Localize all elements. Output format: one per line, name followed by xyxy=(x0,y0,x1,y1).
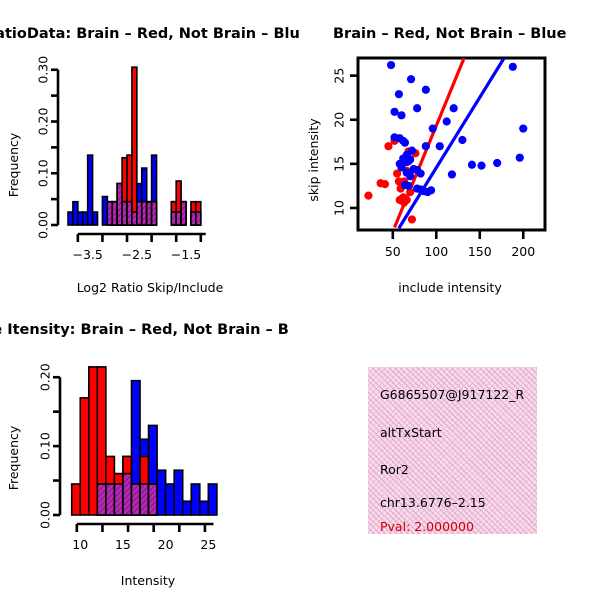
scatter-point xyxy=(448,170,456,178)
bar-overlap xyxy=(97,484,106,515)
y-axis-label: Frequency xyxy=(6,132,21,197)
bar-overlap xyxy=(123,474,132,515)
scatter-point xyxy=(397,111,405,119)
scatter-points xyxy=(364,61,527,224)
scatter-point xyxy=(417,185,425,193)
x-tick-label: 10 xyxy=(72,537,88,552)
x-tick-label: 50 xyxy=(385,244,401,259)
x-axis-label: Intensity xyxy=(121,573,176,588)
y-axis-label: Frequency xyxy=(6,425,21,490)
scatter-point xyxy=(417,169,425,177)
event-info-box: G6865507@J917122_RaltTxStartRor2chr13.67… xyxy=(368,367,537,534)
scatter-point xyxy=(468,161,476,169)
intensity-scatter-svg: 1015202550100150200 include intensity sk… xyxy=(300,40,600,310)
scatter-point xyxy=(407,75,415,83)
scatter-point xyxy=(413,104,421,112)
x-tick-label: 100 xyxy=(424,244,448,259)
bar-overlap xyxy=(149,484,158,515)
x-tick-label: 15 xyxy=(115,537,131,552)
bar-overlap xyxy=(106,484,115,515)
bar-brain xyxy=(72,484,81,515)
scatter-point xyxy=(408,215,416,223)
bar-overlap xyxy=(131,484,140,515)
scatter-point xyxy=(436,142,444,150)
bar-not-brain xyxy=(208,484,217,515)
bar-not-brain xyxy=(183,501,192,515)
bar-not-brain xyxy=(200,501,209,515)
pval-text: Pval: 2.000000 xyxy=(380,519,474,534)
scatter-point xyxy=(443,117,451,125)
intensity-scatter-panel: 1015202550100150200 include intensity sk… xyxy=(300,40,600,310)
regression-lines xyxy=(395,58,505,228)
y-tick-label: 0.30 xyxy=(36,56,51,84)
scatter-point xyxy=(406,155,414,163)
regression-line xyxy=(399,58,504,228)
bar-overlap xyxy=(114,484,123,515)
scatter-point xyxy=(493,159,501,167)
x-tick-label: 200 xyxy=(511,244,535,259)
y-tick-label: 20 xyxy=(332,112,347,128)
scatter-point xyxy=(406,172,414,180)
y-tick-label: 0.20 xyxy=(36,108,51,136)
bar-not-brain xyxy=(191,484,200,515)
scatter-point xyxy=(408,147,416,155)
scatter-point xyxy=(381,180,389,188)
bar-not-brain xyxy=(93,212,98,225)
bar-overlap xyxy=(181,202,186,225)
bar-overlap xyxy=(152,202,157,225)
bar-brain xyxy=(80,398,89,515)
scatter-point xyxy=(450,104,458,112)
x-axis-label: Log2 Ratio Skip/Include xyxy=(77,280,224,295)
y-tick-label: 15 xyxy=(332,156,347,172)
scatter-point xyxy=(387,61,395,69)
bar-overlap xyxy=(196,212,201,225)
log2-ratio-histogram-panel: 0.000.100.200.30−3.5−2.5−1.5 Log2 Ratio … xyxy=(0,40,300,310)
bar-brain xyxy=(89,367,98,515)
x-tick-label: −2.5 xyxy=(122,247,152,262)
histogram-bars xyxy=(68,67,201,225)
bar-not-brain xyxy=(174,470,183,515)
info-line-2: Ror2 xyxy=(380,462,409,477)
histogram-bars xyxy=(72,367,217,515)
x-tick-label: −1.5 xyxy=(171,247,201,262)
y-tick-label: 10 xyxy=(332,200,347,216)
y-tick-label: 0.10 xyxy=(36,159,51,187)
bar-overlap xyxy=(140,484,149,515)
intensity-histogram-panel: 0.000.100.2010152025 Intensity Frequency xyxy=(0,340,300,600)
scatter-point xyxy=(519,124,527,132)
y-axis-label: skip intensity xyxy=(306,118,321,202)
scatter-point xyxy=(429,124,437,132)
scatter-point xyxy=(422,86,430,94)
bottom-left-title: ne Itensity: Brain – Red, Not Brain – B xyxy=(0,322,289,338)
x-tick-label: −3.5 xyxy=(72,247,102,262)
scatter-point xyxy=(403,196,411,204)
info-line-3: chr13.6776–2.15 xyxy=(380,495,486,510)
x-axis-label: include intensity xyxy=(398,280,502,295)
scatter-point xyxy=(516,154,524,162)
scatter-point xyxy=(458,136,466,144)
scatter-point xyxy=(390,108,398,116)
scatter-point xyxy=(509,63,517,71)
scatter-point xyxy=(395,90,403,98)
y-tick-label: 0.00 xyxy=(36,211,51,239)
log2-ratio-histogram-svg: 0.000.100.200.30−3.5−2.5−1.5 Log2 Ratio … xyxy=(0,40,300,310)
bar-not-brain xyxy=(166,484,175,515)
scatter-point xyxy=(364,192,372,200)
plot-page: RatioData: Brain – Red, Not Brain – Blu … xyxy=(0,0,600,600)
y-tick-label: 0.10 xyxy=(38,432,53,460)
info-box-lines: G6865507@J917122_RaltTxStartRor2chr13.67… xyxy=(368,367,537,534)
scatter-point xyxy=(401,139,409,147)
info-line-0: G6865507@J917122_R xyxy=(380,387,524,402)
x-tick-label: 25 xyxy=(200,537,216,552)
x-tick-label: 150 xyxy=(468,244,492,259)
tick-labels: 0.000.100.200.30−3.5−2.5−1.5 xyxy=(36,56,202,262)
scatter-point xyxy=(427,186,435,194)
x-tick-label: 20 xyxy=(158,537,174,552)
y-tick-label: 0.20 xyxy=(38,363,53,391)
bar-not-brain xyxy=(157,470,166,515)
scatter-point xyxy=(422,142,430,150)
y-tick-label: 25 xyxy=(332,68,347,84)
intensity-histogram-svg: 0.000.100.2010152025 Intensity Frequency xyxy=(0,340,300,600)
scatter-point xyxy=(477,162,485,170)
y-tick-label: 0.00 xyxy=(38,501,53,529)
info-line-1: altTxStart xyxy=(380,425,442,440)
scatter-point xyxy=(404,182,412,190)
